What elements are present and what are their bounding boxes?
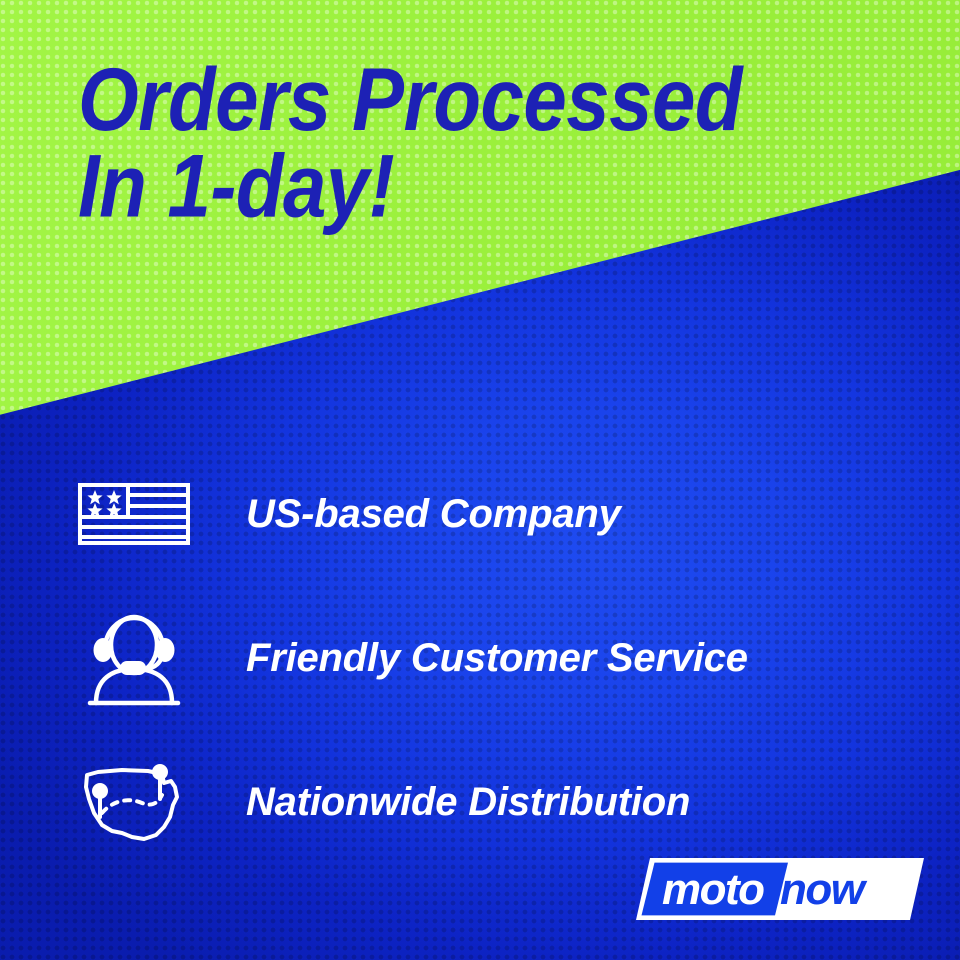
feature-label: Friendly Customer Service	[246, 636, 748, 681]
us-map-pins-icon	[78, 761, 190, 843]
motonow-logo[interactable]: moto now	[636, 858, 924, 920]
feature-row: US-based Company	[78, 442, 898, 586]
feature-list: US-based Company	[78, 442, 898, 874]
logo-secondary-text: now	[780, 865, 868, 914]
feature-label: Nationwide Distribution	[246, 780, 690, 825]
feature-label: US-based Company	[246, 492, 621, 537]
us-flag-icon	[78, 483, 190, 545]
headline: Orders Processed In 1-day!	[78, 56, 918, 230]
promo-banner: Orders Processed In 1-day!	[0, 0, 960, 960]
feature-row: Nationwide Distribution	[78, 730, 898, 874]
headset-agent-icon	[78, 609, 190, 707]
feature-row: Friendly Customer Service	[78, 586, 898, 730]
logo-primary-text: moto	[662, 865, 764, 914]
